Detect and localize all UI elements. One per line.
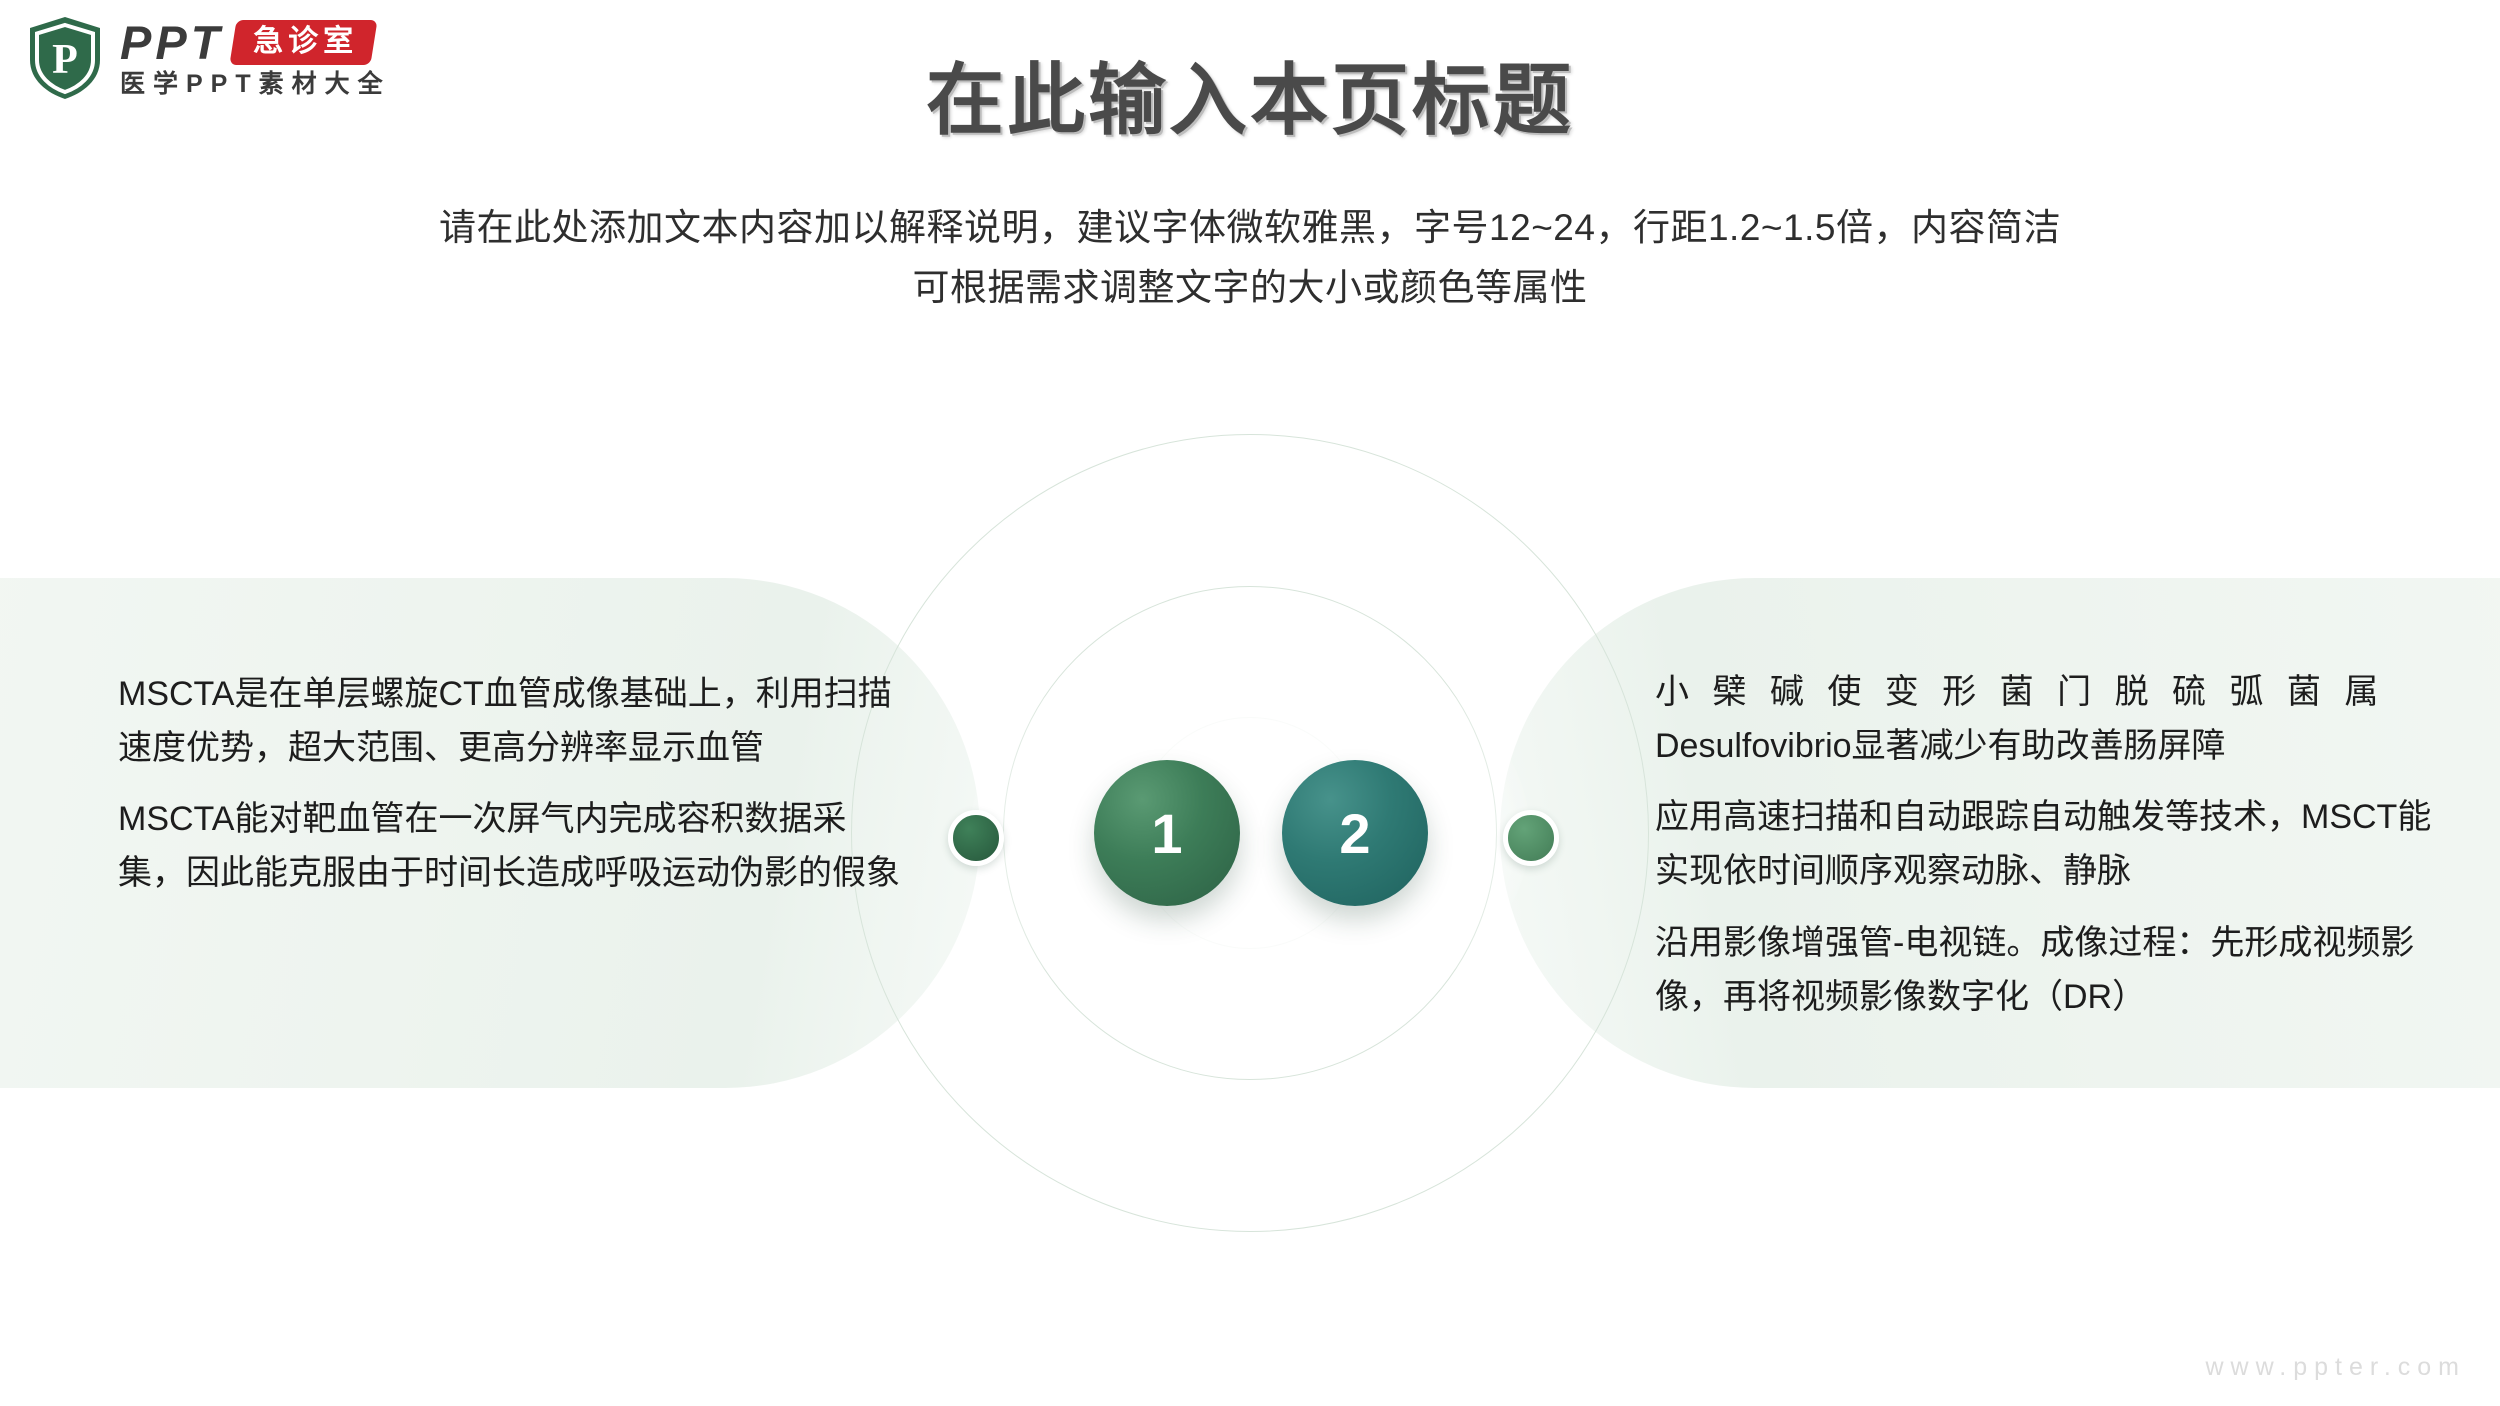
right-text-block: 小 檗 碱 使 变 形 菌 门 脱 硫 弧 菌 属Desulfovibrio显著… (1655, 666, 2445, 1024)
site-watermark: www.ppter.com (2205, 1353, 2466, 1382)
left-paragraph-2: MSCTA能对靶血管在一次屏气内完成容积数据采集，因此能克服由于时间长造成呼吸运… (118, 793, 908, 900)
right-paragraph-3: 沿用影像增强管-电视链。成像过程：先形成视频影像，再将视频影像数字化（DR） (1655, 917, 2445, 1024)
step-circle-2-label: 2 (1339, 801, 1370, 866)
right-paragraph-1: 小 檗 碱 使 变 形 菌 门 脱 硫 弧 菌 属Desulfovibrio显著… (1655, 666, 2445, 773)
page-subtitle-line-1: 请在此处添加文本内容加以解释说明，建议字体微软雅黑，字号12~24，行距1.2~… (0, 198, 2500, 258)
page-title: 在此输入本页标题 (0, 38, 2500, 150)
left-paragraph-1: MSCTA是在单层螺旋CT血管成像基础上，利用扫描速度优势，超大范围、更高分辨率… (118, 668, 908, 775)
step-circle-1-label: 1 (1151, 801, 1182, 866)
step-circle-2[interactable]: 2 (1282, 760, 1428, 906)
node-dot-right[interactable] (1503, 810, 1559, 866)
right-paragraph-spaced: 小 檗 碱 使 变 形 菌 门 脱 硫 弧 菌 属 (1655, 673, 2385, 711)
page-subtitle: 请在此处添加文本内容加以解释说明，建议字体微软雅黑，字号12~24，行距1.2~… (0, 198, 2500, 318)
node-dot-left[interactable] (948, 810, 1004, 866)
right-paragraph-2: 应用高速扫描和自动跟踪自动触发等技术，MSCT能实现依时间顺序观察动脉、静脉 (1655, 791, 2445, 898)
page-subtitle-line-2: 可根据需求调整文字的大小或颜色等属性 (0, 258, 2500, 318)
left-text-block: MSCTA是在单层螺旋CT血管成像基础上，利用扫描速度优势，超大范围、更高分辨率… (118, 668, 908, 901)
step-circle-1[interactable]: 1 (1094, 760, 1240, 906)
center-glow (970, 633, 1530, 1033)
right-paragraph-1-tail: Desulfovibrio显著减少有助改善肠屏障 (1655, 727, 2226, 765)
slide-canvas: P PPT 急诊室 医学PPT素材大全 在此输入本页标题 请在此处添加文本内容加… (0, 0, 2500, 1406)
